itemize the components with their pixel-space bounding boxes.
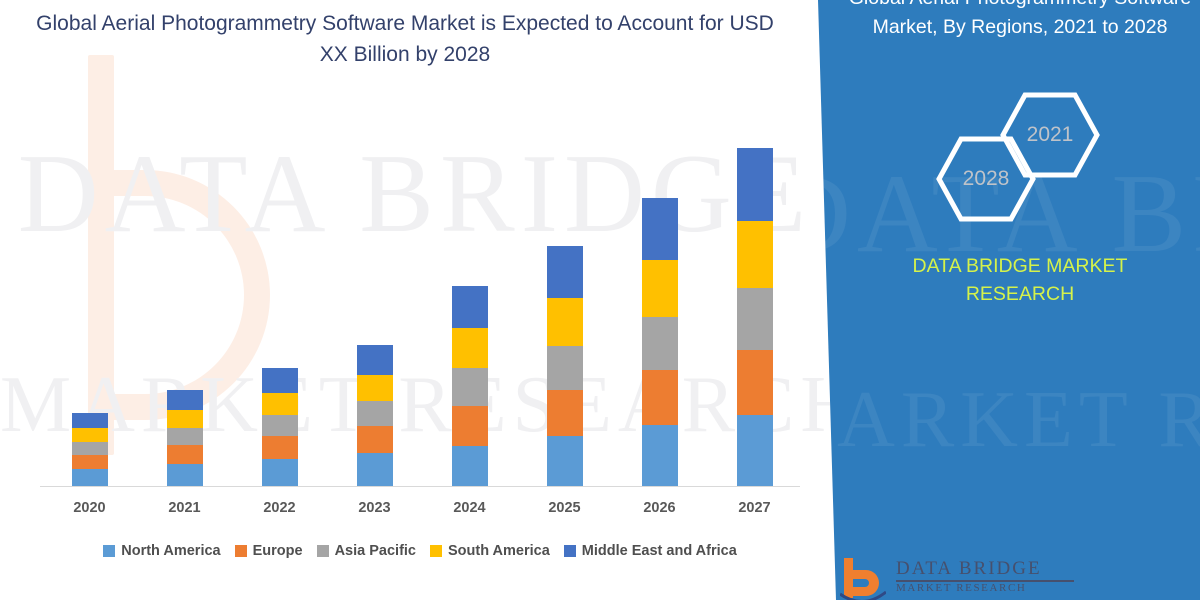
bridge-logo-icon bbox=[840, 556, 886, 600]
x-tick-label: 2025 bbox=[520, 500, 610, 516]
bar-group[interactable] bbox=[642, 198, 678, 486]
x-tick-label: 2024 bbox=[425, 500, 515, 516]
bar-segment[interactable] bbox=[547, 346, 583, 390]
x-tick-label: 2026 bbox=[615, 500, 705, 516]
bar-segment[interactable] bbox=[357, 453, 393, 486]
bar-segment[interactable] bbox=[452, 406, 488, 446]
bar-segment[interactable] bbox=[737, 415, 773, 486]
bar-segment[interactable] bbox=[357, 426, 393, 453]
x-tick-label: 2021 bbox=[140, 500, 230, 516]
bar-group[interactable] bbox=[357, 345, 393, 486]
legend-item[interactable]: Europe bbox=[235, 543, 303, 559]
bar-group[interactable] bbox=[547, 246, 583, 486]
bar-group[interactable] bbox=[167, 390, 203, 486]
logo-tagline: MARKET RESEARCH bbox=[896, 582, 1026, 594]
bar-segment[interactable] bbox=[547, 246, 583, 298]
legend-label: Middle East and Africa bbox=[582, 543, 737, 559]
legend-item[interactable]: Middle East and Africa bbox=[564, 543, 737, 559]
bar-segment[interactable] bbox=[72, 469, 108, 486]
bar-group[interactable] bbox=[737, 148, 773, 486]
bar-segment[interactable] bbox=[452, 286, 488, 328]
bar-segment[interactable] bbox=[357, 375, 393, 401]
chart-legend: North AmericaEuropeAsia PacificSouth Ame… bbox=[40, 540, 800, 562]
x-tick-label: 2020 bbox=[45, 500, 135, 516]
bar-segment[interactable] bbox=[72, 455, 108, 469]
bar-segment[interactable] bbox=[547, 390, 583, 436]
x-axis-line bbox=[40, 486, 800, 487]
logo-wordmark: DATA BRIDGE bbox=[896, 558, 1042, 580]
legend-label: Europe bbox=[253, 543, 303, 559]
legend-label: South America bbox=[448, 543, 550, 559]
legend-swatch-icon bbox=[430, 545, 442, 557]
legend-swatch-icon bbox=[103, 545, 115, 557]
brand-name: DATA BRIDGE MARKET RESEARCH bbox=[860, 252, 1180, 308]
x-tick-label: 2022 bbox=[235, 500, 325, 516]
chart-panel: DATA BRIDGE MARKET RESEARCH Global Aeria… bbox=[0, 0, 830, 600]
plot-area bbox=[40, 95, 800, 487]
bar-segment[interactable] bbox=[737, 148, 773, 221]
bar-segment[interactable] bbox=[262, 415, 298, 436]
bar-segment[interactable] bbox=[167, 428, 203, 445]
bar-segment[interactable] bbox=[262, 459, 298, 486]
hexagon-2021-label: 2021 bbox=[1000, 92, 1100, 178]
chart-title: Global Aerial Photogrammetry Software Ma… bbox=[35, 8, 775, 70]
bar-group[interactable] bbox=[72, 413, 108, 486]
bar-segment[interactable] bbox=[262, 393, 298, 415]
company-logo: DATA BRIDGE MARKET RESEARCH bbox=[840, 556, 1080, 600]
legend-swatch-icon bbox=[317, 545, 329, 557]
bar-segment[interactable] bbox=[452, 368, 488, 406]
x-tick-label: 2027 bbox=[710, 500, 800, 516]
bar-segment[interactable] bbox=[72, 413, 108, 428]
bar-segment[interactable] bbox=[262, 436, 298, 459]
bar-segment[interactable] bbox=[547, 436, 583, 486]
bar-segment[interactable] bbox=[737, 221, 773, 288]
bar-segment[interactable] bbox=[547, 298, 583, 346]
bar-segment[interactable] bbox=[737, 350, 773, 415]
bar-segment[interactable] bbox=[357, 345, 393, 375]
bar-segment[interactable] bbox=[72, 442, 108, 455]
bar-segment[interactable] bbox=[72, 428, 108, 442]
bar-segment[interactable] bbox=[167, 445, 203, 464]
legend-swatch-icon bbox=[235, 545, 247, 557]
bar-segment[interactable] bbox=[167, 410, 203, 428]
legend-label: Asia Pacific bbox=[335, 543, 416, 559]
bar-segment[interactable] bbox=[167, 390, 203, 410]
bar-segment[interactable] bbox=[452, 446, 488, 486]
hexagon-2021: 2021 bbox=[1000, 92, 1100, 178]
bar-segment[interactable] bbox=[357, 401, 393, 426]
bar-segment[interactable] bbox=[642, 260, 678, 317]
bar-segment[interactable] bbox=[452, 328, 488, 368]
legend-item[interactable]: Asia Pacific bbox=[317, 543, 416, 559]
bar-group[interactable] bbox=[452, 286, 488, 486]
brand-panel-title: Global Aerial Photogrammetry Software Ma… bbox=[848, 0, 1192, 42]
legend-label: North America bbox=[121, 543, 220, 559]
bar-segment[interactable] bbox=[642, 317, 678, 370]
x-axis-tick-labels: 20202021202220232024202520262027 bbox=[40, 500, 800, 520]
infographic-root: DATA BRIDGE MARKET RESEARCH Global Aeria… bbox=[0, 0, 1200, 600]
bar-segment[interactable] bbox=[262, 368, 298, 393]
bar-segment[interactable] bbox=[167, 464, 203, 486]
legend-item[interactable]: South America bbox=[430, 543, 550, 559]
legend-item[interactable]: North America bbox=[103, 543, 220, 559]
bar-segment[interactable] bbox=[642, 370, 678, 425]
legend-swatch-icon bbox=[564, 545, 576, 557]
x-tick-label: 2023 bbox=[330, 500, 420, 516]
bar-segment[interactable] bbox=[642, 198, 678, 260]
bar-group[interactable] bbox=[262, 368, 298, 486]
bar-segment[interactable] bbox=[737, 288, 773, 350]
bar-segment[interactable] bbox=[642, 425, 678, 486]
